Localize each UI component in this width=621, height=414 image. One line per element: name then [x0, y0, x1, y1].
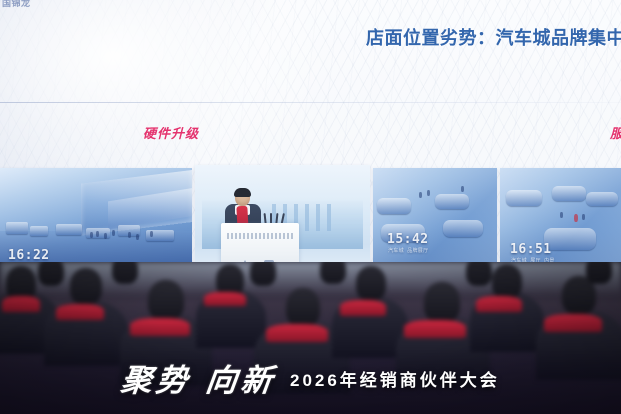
vehicle — [377, 198, 411, 214]
stage-screenshot: 国锦龙 店面位置劣势：汽车城品牌集中 硬件升级 服 — [0, 0, 621, 414]
corner-label: 国锦龙 — [2, 0, 31, 9]
speaker-hair — [234, 188, 251, 197]
person-silhouette — [419, 192, 422, 198]
slide-caption-service: 服 — [610, 126, 621, 142]
panel-c-timestamp: 15:42 — [387, 232, 429, 247]
person-silhouette — [427, 190, 430, 196]
panel-d-timestamp: 16:51 — [510, 242, 552, 257]
vehicle — [435, 194, 469, 209]
vehicle — [30, 226, 48, 236]
projection-slide: 国锦龙 店面位置劣势：汽车城品牌集中 硬件升级 服 — [0, 0, 621, 288]
vehicle — [506, 190, 542, 206]
event-brand-slogan: 聚势 向新 — [119, 364, 278, 398]
panel-showroom-interior-b: 16:51 汽车城 展厅 内景 — [500, 168, 621, 276]
person-silhouette — [104, 233, 107, 239]
person-silhouette — [582, 214, 585, 220]
person-silhouette — [112, 230, 115, 236]
vehicle — [552, 186, 586, 201]
event-subtitle: 2026年经销商伙伴大会 — [290, 371, 500, 391]
panel-d-image: 16:51 汽车城 展厅 内景 — [500, 168, 621, 276]
person-silhouette — [128, 232, 131, 238]
person-silhouette — [90, 232, 93, 238]
panel-c-image: 15:42 汽车城 品牌展厅 — [373, 168, 497, 276]
vehicle — [6, 222, 28, 234]
slide-divider-rule — [0, 102, 621, 103]
event-title-banner: 聚势 向新 2026年经销商伙伴大会 — [0, 348, 621, 414]
panel-a-image: 16:22 中国 汽车城 大道 — [0, 168, 192, 276]
person-silhouette — [461, 186, 464, 192]
vehicle — [586, 192, 618, 206]
slide-panel-row: 16:22 中国 汽车城 大道 — [0, 168, 621, 276]
person-silhouette — [150, 231, 153, 237]
panel-a-timestamp: 16:22 — [8, 248, 50, 263]
person-silhouette — [96, 231, 99, 237]
slide-caption-hardware-upgrade: 硬件升级 — [143, 126, 199, 142]
podium-banner-text — [227, 233, 293, 239]
person-silhouette — [136, 234, 139, 240]
panel-c-meta: 汽车城 品牌展厅 — [388, 248, 428, 255]
vehicle — [443, 220, 483, 237]
panel-dealership-exterior: 16:22 中国 汽车城 大道 — [0, 168, 192, 276]
panel-showroom-interior-a: 15:42 汽车城 品牌展厅 — [373, 168, 497, 276]
slide-title: 店面位置劣势：汽车城品牌集中 — [366, 26, 621, 50]
person-silhouette — [574, 214, 578, 222]
vehicle — [56, 224, 82, 235]
person-silhouette — [560, 212, 563, 218]
